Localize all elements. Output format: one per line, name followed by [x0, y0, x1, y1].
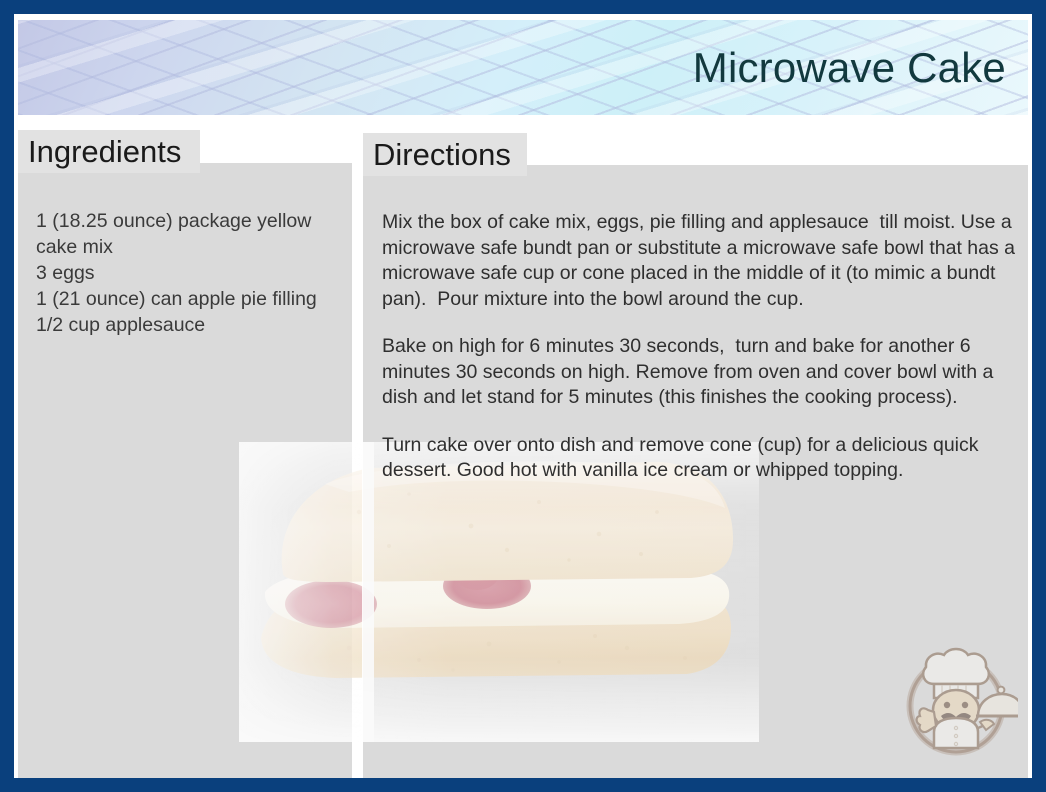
list-item: 1 (18.25 ounce) package yellow cake mix — [36, 208, 352, 260]
directions-heading: Directions — [373, 139, 511, 170]
directions-tab: Directions — [363, 133, 527, 176]
header-banner: Microwave Cake — [18, 20, 1028, 115]
list-item: 1 (21 ounce) can apple pie filling — [36, 286, 352, 312]
direction-paragraph: Mix the box of cake mix, eggs, pie filli… — [382, 210, 1032, 312]
recipe-card: Microwave Cake — [0, 0, 1046, 792]
direction-paragraph: Turn cake over onto dish and remove cone… — [382, 433, 1032, 484]
list-item: 1/2 cup applesauce — [36, 312, 352, 338]
directions-text: Mix the box of cake mix, eggs, pie filli… — [382, 210, 1032, 484]
list-item: 3 eggs — [36, 260, 352, 286]
page-title: Microwave Cake — [693, 47, 1006, 89]
direction-paragraph: Bake on high for 6 minutes 30 seconds, t… — [382, 334, 1032, 411]
ingredients-heading: Ingredients — [28, 136, 181, 167]
ingredients-tab: Ingredients — [18, 130, 200, 173]
ingredients-list: 1 (18.25 ounce) package yellow cake mix … — [36, 208, 352, 338]
